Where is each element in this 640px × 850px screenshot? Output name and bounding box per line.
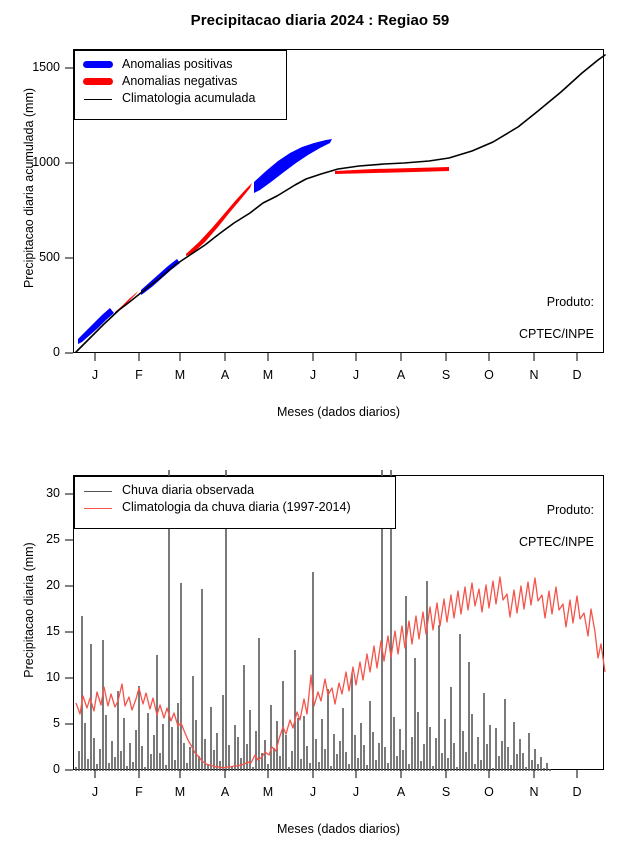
top-x-axis-title: Meses (dados diarios) — [173, 405, 504, 419]
bottom-xtick-feb: F — [124, 785, 154, 799]
bottom-xtick-nov: N — [519, 785, 549, 799]
bottom-xtick-mar: M — [165, 785, 195, 799]
precipitation-report-page: Precipitacao diaria 2024 : Regiao 59 — [0, 0, 640, 850]
top-xtick-oct: O — [474, 368, 504, 382]
daily-precipitation-panel: Chuva diaria observada Climatologia da c… — [0, 430, 640, 850]
bottom-xtick-aug: A — [386, 785, 416, 799]
bottom-xtick-oct: O — [474, 785, 504, 799]
bottom-ytick-0: 0 — [10, 762, 60, 776]
bottom-x-axis-title: Meses (dados diarios) — [173, 822, 504, 836]
bottom-xtick-jan: J — [80, 785, 110, 799]
top-xtick-jan: J — [80, 368, 110, 382]
bottom-xtick-jun: J — [298, 785, 328, 799]
top-xtick-feb: F — [124, 368, 154, 382]
top-y-axis-ticks — [0, 0, 640, 430]
top-xtick-may: M — [253, 368, 283, 382]
bottom-y-axis-title: Precipitacao diaria (mm) — [22, 490, 36, 730]
top-xtick-sep: S — [431, 368, 461, 382]
top-xtick-nov: N — [519, 368, 549, 382]
bottom-xtick-apr: A — [210, 785, 240, 799]
bottom-xtick-dec: D — [562, 785, 592, 799]
accumulated-precipitation-panel: Anomalias positivas Anomalias negativas … — [0, 0, 640, 430]
top-xtick-apr: A — [210, 368, 240, 382]
top-xtick-jul: J — [341, 368, 371, 382]
top-xtick-mar: M — [165, 368, 195, 382]
bottom-xtick-jul: J — [341, 785, 371, 799]
top-xtick-dec: D — [562, 368, 592, 382]
top-y-axis-title: Precipitacao diaria acumulada (mm) — [22, 28, 36, 348]
bottom-xtick-may: M — [253, 785, 283, 799]
top-xtick-jun: J — [298, 368, 328, 382]
top-xtick-aug: A — [386, 368, 416, 382]
bottom-xtick-sep: S — [431, 785, 461, 799]
